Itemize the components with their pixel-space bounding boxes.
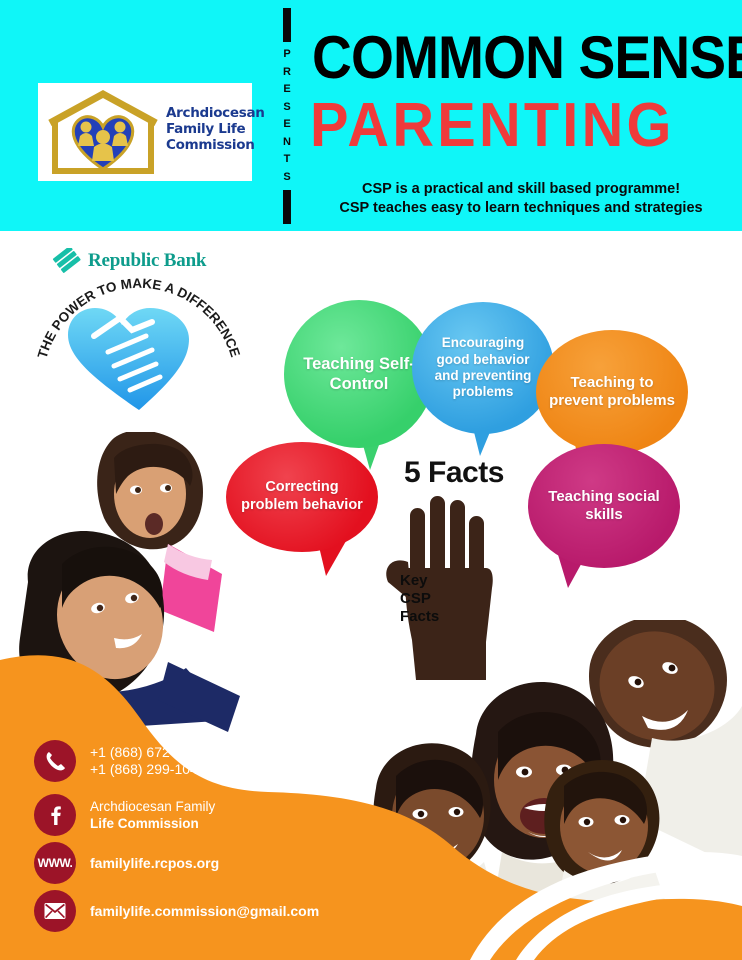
bubble-magenta-label: Teaching social skills [528, 488, 680, 525]
bubble-teaching-to-prevent-problems[interactable]: Teaching to prevent problems [536, 330, 688, 454]
phone-number-2: +1 (868) 299-1047 [90, 761, 360, 778]
facebook-line-1: Archdiocesan Family [90, 798, 360, 815]
presents-letter-3: S [279, 99, 295, 117]
presents-letter-6: T [279, 151, 295, 169]
phone-number-1: +1 (868) 672-4280 [90, 744, 360, 761]
tagline-line-1: CSP is a practical and skill based progr… [306, 180, 736, 199]
poster: Archdiocesan Family Life Commission PRES… [0, 0, 742, 960]
bubble-orange-label: Teaching to prevent problems [536, 374, 688, 411]
presents-letter-1: R [279, 64, 295, 82]
contact-row-facebook[interactable]: Archdiocesan Family Life Commission [34, 794, 364, 840]
presents-rail: PRESENTS [279, 8, 295, 224]
republic-bank-name: Republic Bank [88, 248, 206, 274]
contact-row-website[interactable]: WWW. familylife.rcpos.org [34, 842, 364, 888]
afc-logo-text: Archdiocesan Family Life Commission [166, 105, 252, 153]
republic-bank-diamond-icon [52, 248, 84, 274]
republic-bank-logo: Republic Bank [52, 248, 232, 274]
handshake-heart-icon [68, 308, 189, 410]
afc-logo-line2: Family Life [166, 121, 252, 137]
phone-numbers: +1 (868) 672-4280 +1 (868) 299-1047 [90, 740, 360, 782]
phone-icon [34, 740, 76, 782]
presents-letter-0: P [279, 46, 295, 64]
contact-row-email[interactable]: familylife.commission@gmail.com [34, 890, 364, 936]
email-text: familylife.commission@gmail.com [90, 890, 360, 932]
contact-row-phone[interactable]: +1 (868) 672-4280 +1 (868) 299-1047 [34, 740, 364, 792]
afc-logo-line3: Commission [166, 137, 252, 153]
facebook-line-2: Life Commission [90, 815, 360, 832]
tagline-line-2: CSP teaches easy to learn techniques and… [306, 199, 736, 218]
presents-letter-7: S [279, 169, 295, 187]
presents-label: PRESENTS [279, 46, 295, 188]
presents-letter-4: E [279, 116, 295, 134]
facebook-name: Archdiocesan Family Life Commission [90, 794, 360, 836]
poster-title-main: COMMON SENSE [312, 26, 698, 92]
envelope-icon [34, 890, 76, 932]
poster-tagline: CSP is a practical and skill based progr… [306, 180, 736, 218]
header-band: Archdiocesan Family Life Commission PRES… [0, 0, 742, 231]
afc-logo: Archdiocesan Family Life Commission [38, 83, 252, 181]
www-glyph-label: WWW. [38, 856, 73, 870]
email-address: familylife.commission@gmail.com [90, 903, 360, 920]
facebook-icon [34, 794, 76, 836]
www-icon: WWW. [34, 842, 76, 884]
bubble-red-label: Correcting problem behavior [226, 479, 378, 514]
house-heart-family-logo [42, 87, 164, 177]
presents-letter-2: E [279, 81, 295, 99]
bubble-teaching-social-skills[interactable]: Teaching social skills [528, 444, 680, 568]
power-to-make-a-difference-logo: THE POWER TO MAKE A DIFFERENCE [34, 278, 244, 413]
presents-bar-top [283, 8, 291, 42]
five-facts-label: 5 Facts [404, 456, 524, 490]
website-url: familylife.rcpos.org [90, 855, 360, 872]
website-text: familylife.rcpos.org [90, 842, 360, 884]
poster-title-sub: PARENTING [310, 92, 704, 164]
contact-list: +1 (868) 672-4280 +1 (868) 299-1047 Arch… [34, 740, 364, 938]
bubble-encouraging-good-behavior[interactable]: Encouraging good behavior and preventing… [412, 302, 554, 434]
afc-logo-line1: Archdiocesan [166, 105, 252, 121]
bubble-correcting-problem-behavior[interactable]: Correcting problem behavior [226, 442, 378, 552]
presents-bar-bottom [283, 190, 291, 224]
hand-label-line1: Key [400, 572, 464, 590]
bubble-blue-label: Encouraging good behavior and preventing… [412, 335, 554, 401]
presents-letter-5: N [279, 134, 295, 152]
